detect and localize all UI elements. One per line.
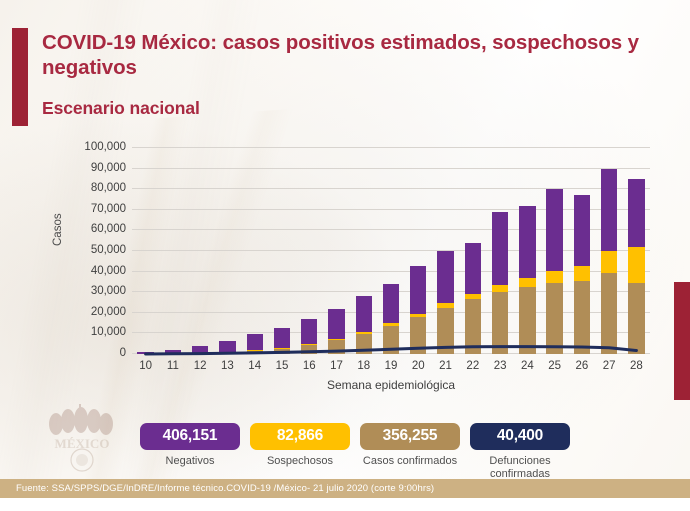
x-axis-tick-label: 18 [350,360,377,372]
x-axis-tick-label: 24 [514,360,541,372]
y-axis-tick-label: 10,000 [91,326,126,338]
page-subtitle: Escenario nacional [42,98,200,119]
summary-caption: Casos confirmados [360,455,460,468]
summary-caption: Sospechosos [250,455,350,468]
summary-pill-group: 406,151Negativos82,866Sospechosos356,255… [140,423,570,480]
x-axis-tick-label: 28 [623,360,650,372]
x-axis-tick-label: 20 [405,360,432,372]
summary-value-pill: 40,400 [470,423,570,450]
x-axis-tick-label: 16 [296,360,323,372]
x-axis-tick-label: 21 [432,360,459,372]
y-axis-title: Casos [52,213,64,246]
defunciones-line-path [146,347,637,354]
x-axis-tick-label: 19 [377,360,404,372]
footer-source-text: Fuente: SSA/SPPS/DGE/InDRE/Informe técni… [16,483,434,494]
y-axis-tick-label: 40,000 [91,265,126,277]
page-title: COVID-19 México: casos positivos estimad… [42,30,642,80]
y-axis-tick-label: 80,000 [91,182,126,194]
summary-item-defunciones-confirmadas: 40,400Defunciones confirmadas [470,423,570,480]
chart-plot-area: 010,00020,00030,00040,00050,00060,00070,… [132,148,650,354]
slide-root: COVID-19 México: casos positivos estimad… [0,0,690,511]
x-axis-tick-label: 10 [132,360,159,372]
right-accent-bar [674,282,690,400]
x-axis-tick-label: 12 [187,360,214,372]
y-axis-tick-label: 60,000 [91,223,126,235]
defunciones-trend-line [132,148,650,354]
summary-caption: Defunciones confirmadas [470,455,570,480]
government-emblem-watermark: MÉXICO [34,402,130,474]
summary-value-pill: 82,866 [250,423,350,450]
x-axis-tick-label: 25 [541,360,568,372]
summary-item-negativos: 406,151Negativos [140,423,240,480]
y-axis-tick-label: 100,000 [84,141,126,153]
x-axis-tick-label: 15 [268,360,295,372]
y-axis-tick-label: 30,000 [91,285,126,297]
x-axis-tick-label: 23 [486,360,513,372]
x-axis-tick-label: 11 [159,360,186,372]
x-axis-tick-label: 17 [323,360,350,372]
x-axis-tick-label: 26 [568,360,595,372]
summary-caption: Negativos [140,455,240,468]
y-axis-tick-label: 0 [120,347,126,359]
y-axis-tick-label: 90,000 [91,162,126,174]
y-axis-tick-label: 70,000 [91,203,126,215]
footer-source-band: Fuente: SSA/SPPS/DGE/InDRE/Informe técni… [0,479,690,498]
x-axis-tick-label: 13 [214,360,241,372]
x-axis-tick-label: 27 [596,360,623,372]
x-axis-tick-label: 22 [459,360,486,372]
summary-item-sospechosos: 82,866Sospechosos [250,423,350,480]
summary-value-pill: 356,255 [360,423,460,450]
y-axis-tick-label: 20,000 [91,306,126,318]
summary-value-pill: 406,151 [140,423,240,450]
left-accent-bar [12,28,28,126]
x-axis-tick-labels: 10111213141516171819202122232425262728 [132,360,650,372]
covid-stacked-bar-chart: Casos 010,00020,00030,00040,00050,00060,… [58,138,658,396]
footer-base-strip [0,498,690,511]
x-axis-title: Semana epidemiológica [132,378,650,392]
y-axis-tick-label: 50,000 [91,244,126,256]
x-axis-tick-label: 14 [241,360,268,372]
summary-item-casos-confirmados: 356,255Casos confirmados [360,423,460,480]
